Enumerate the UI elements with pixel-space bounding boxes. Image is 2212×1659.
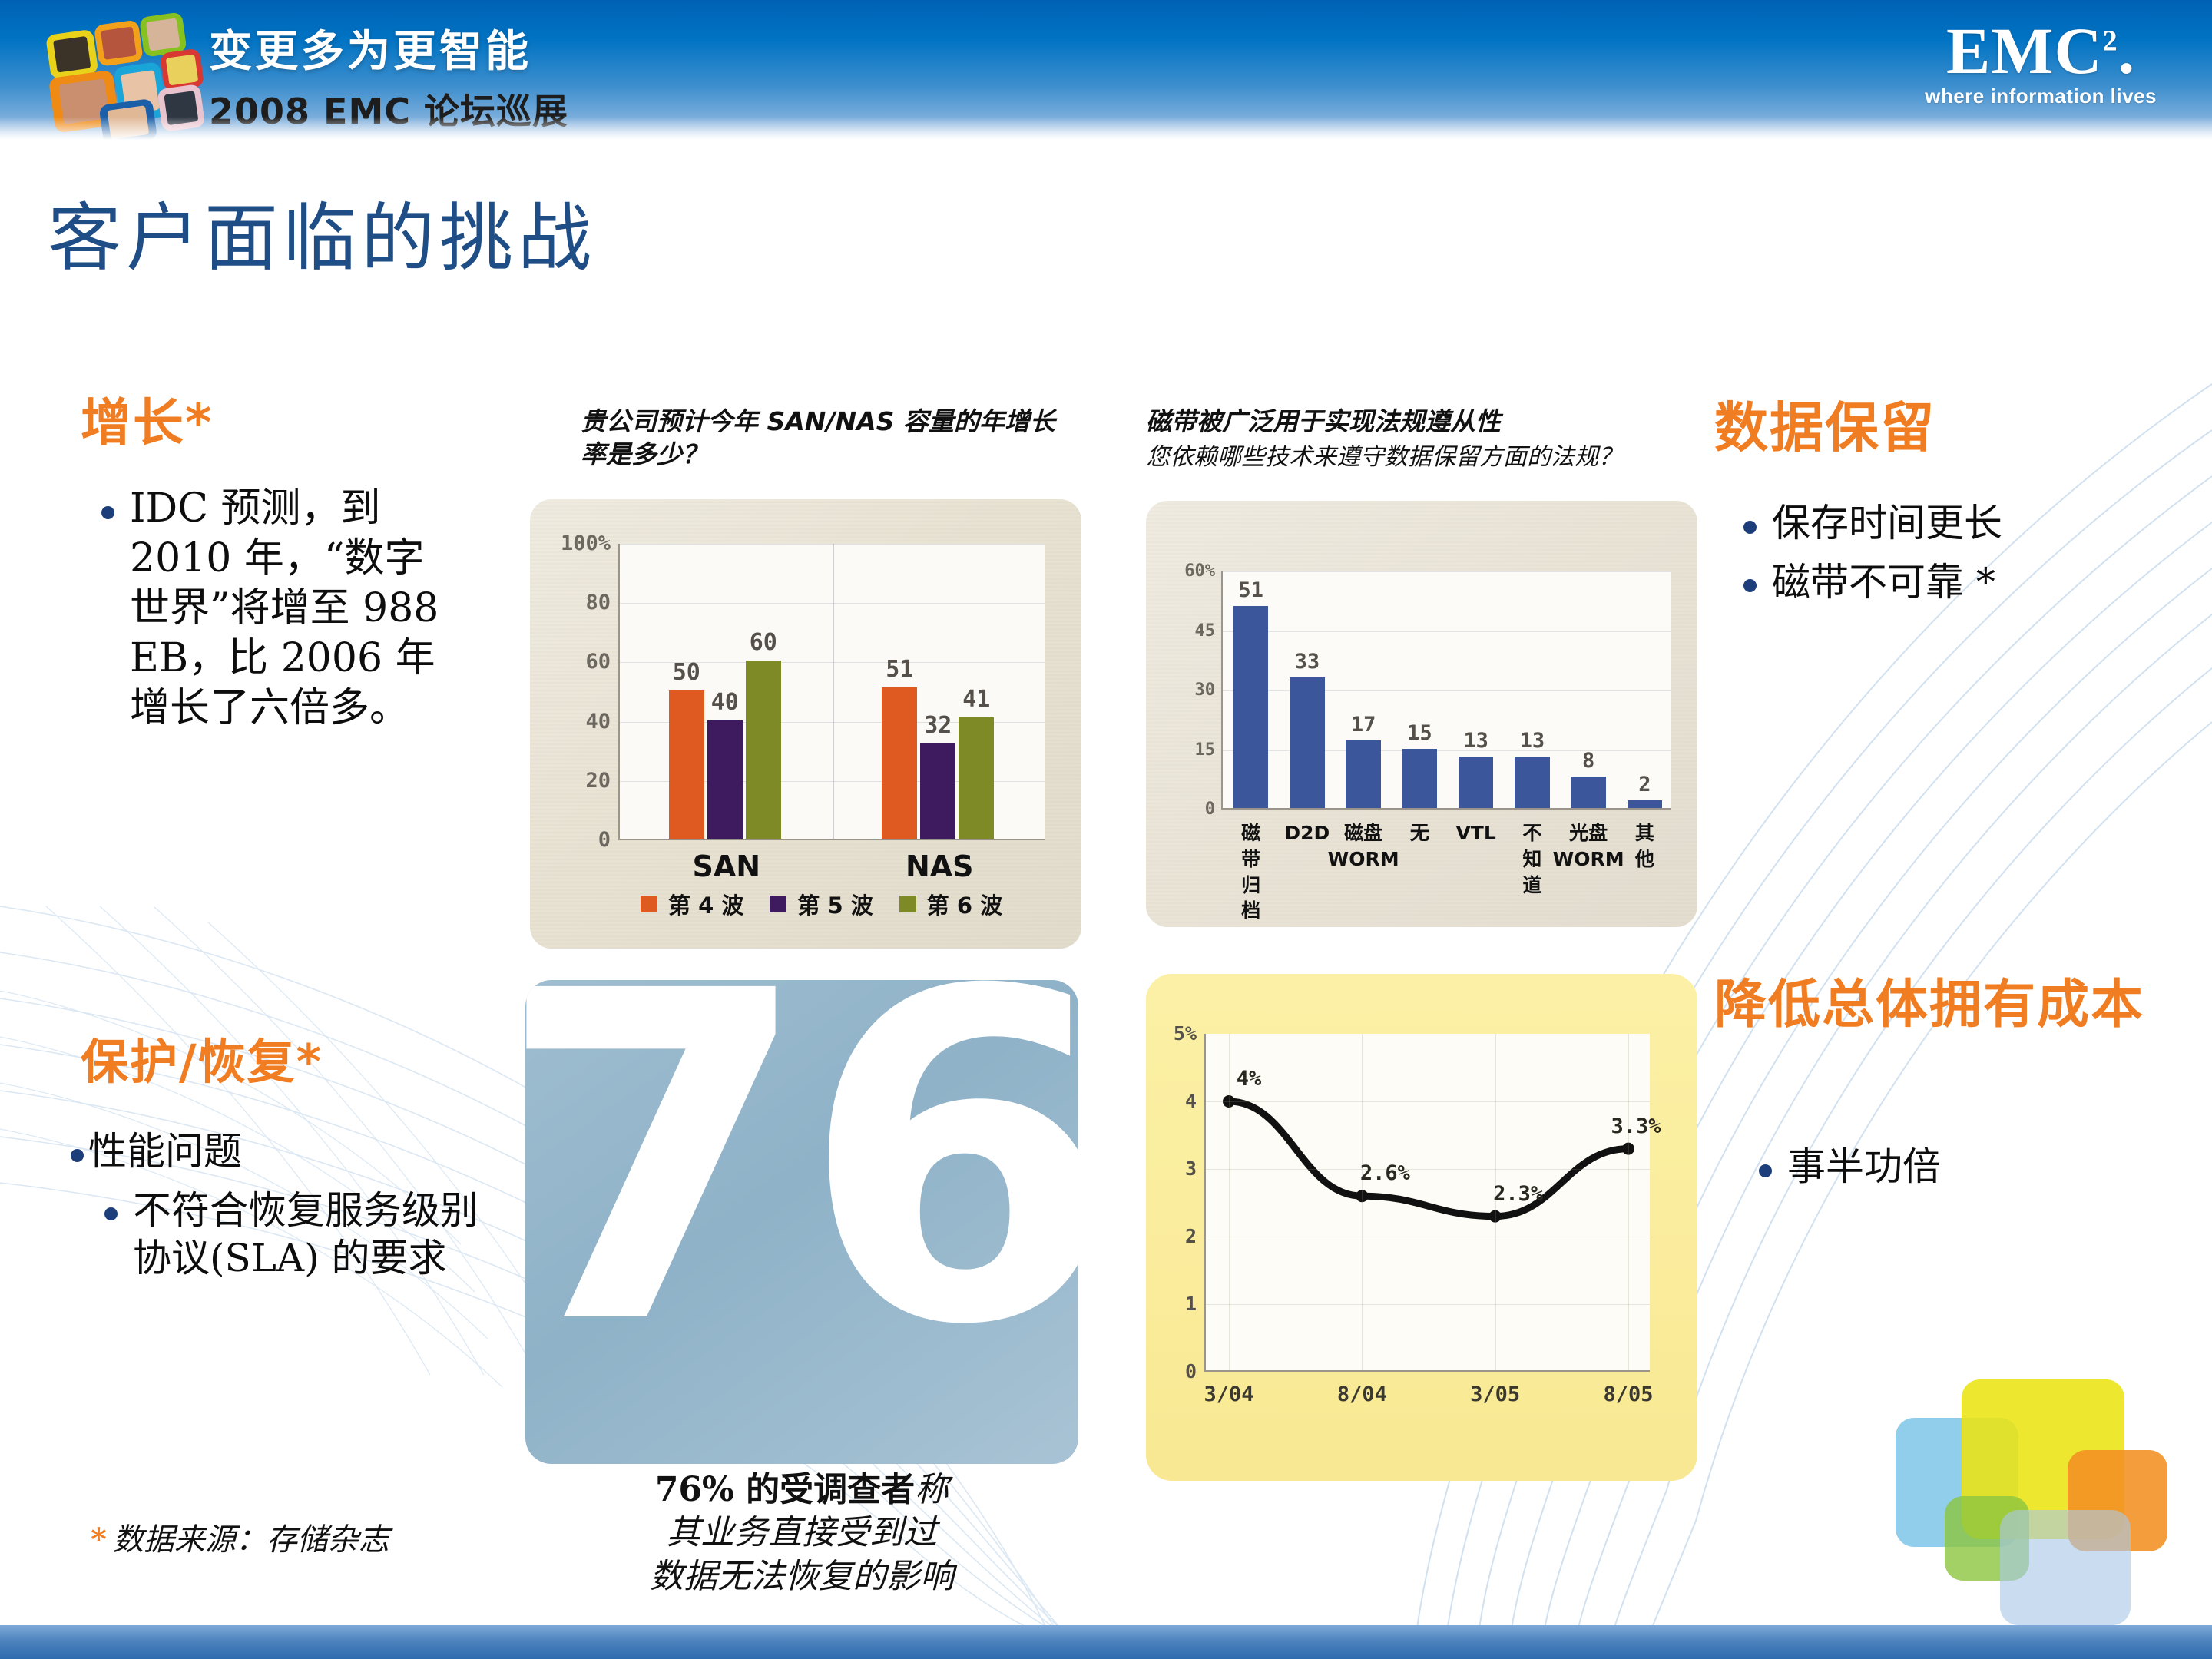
chart2-y-tick-label: 30 (1195, 680, 1216, 700)
chart3-plot-area: 5%432103/048/043/058/054%2.6%2.3%3.3% (1204, 1034, 1650, 1372)
chart3-gridline-vertical (1229, 1034, 1230, 1370)
header-fade (0, 117, 2212, 140)
chart3-gridline (1206, 1237, 1650, 1237)
bullet-text: 性能问题 (88, 1128, 242, 1176)
chart1-bar-value: 32 (924, 712, 952, 739)
photo-76-percent: 76% (525, 980, 1078, 1464)
chart1-bar: 41 (959, 717, 994, 839)
chart1-category-label: NAS (906, 849, 974, 883)
chart2-bar: 8光盘 WORM (1571, 777, 1605, 808)
chart2-bar: 33D2D (1290, 677, 1324, 809)
section-heading-protect: 保护/恢复* (81, 1037, 323, 1088)
footnote-text: 数据来源：存储杂志 (113, 1522, 389, 1558)
chart2-bar-value: 13 (1463, 729, 1488, 753)
list-item: 磁带不可靠 * (1743, 558, 2174, 607)
chart1-bar-group: 504060SAN (669, 544, 784, 839)
chart2-plot-area: 60%453015051磁带 归档33D2D17磁盘 WORM15无13VTL1… (1221, 571, 1671, 810)
chart1-legend-label: 第 6 波 (927, 888, 1002, 920)
page-title: 客户面临的挑战 (48, 178, 596, 285)
decorative-square-bluegray (2000, 1510, 2131, 1625)
chart2-subtitle: 您依赖哪些技术来遵守数据保留方面的法规？ (1146, 442, 1637, 472)
chart2-category-label: 不知道 (1522, 820, 1541, 898)
chart2-title: 磁带被广泛用于实现法规遵从性 (1146, 406, 1637, 439)
photo-76-caption-line2: 其业务直接受到过 (525, 1512, 1078, 1555)
bullet-list-growth: IDC 预测，到 2010 年，“数字世界”将增至 988 EB，比 2006 … (101, 484, 462, 744)
chart1-bar: 32 (920, 743, 955, 839)
chart3-gridline-vertical (1362, 1034, 1363, 1370)
chart2-bar: 51磁带 归档 (1233, 606, 1268, 809)
bullet-text: 磁带不可靠 * (1772, 558, 1995, 607)
chart1-bar: 60 (746, 661, 781, 839)
chart2-bar: 2其他 (1628, 800, 1662, 808)
chart1-bar-value: 60 (750, 629, 777, 656)
chart3-x-tick-label: 3/05 (1470, 1382, 1520, 1406)
emc-wordmark-text: EMC (1946, 14, 2103, 88)
chart3-point-label: 4% (1237, 1067, 1262, 1091)
chart1-y-tick-label: 100% (561, 531, 611, 555)
chart2-panel: 60%453015051磁带 归档33D2D17磁盘 WORM15无13VTL1… (1146, 501, 1697, 927)
chart2-category-label: 其他 (1635, 820, 1654, 873)
chart2-bar: 13不知道 (1515, 757, 1549, 808)
chart2-bar: 15无 (1402, 749, 1437, 809)
section-heading-growth: 增长* (81, 396, 214, 450)
list-item: 事半功倍 (1759, 1143, 2158, 1191)
chart3-gridline (1206, 1101, 1650, 1102)
chart1-plot-area: 100%806040200504060SAN513241NAS (618, 544, 1045, 840)
chart2-category-label: 磁带 归档 (1241, 820, 1260, 924)
chart1-caption: 贵公司预计今年 SAN/NAS 容量的年增长率是多少？ (581, 406, 1057, 472)
chart3-y-tick-label: 4 (1185, 1090, 1197, 1112)
bullet-text: 事半功倍 (1787, 1143, 1941, 1191)
bullet-text: 不符合恢复服务级别协议(SLA) 的要求 (133, 1187, 493, 1283)
chart2-caption: 磁带被广泛用于实现法规遵从性 您依赖哪些技术来遵守数据保留方面的法规？ (1146, 406, 1637, 472)
chart3-y-tick-label: 3 (1185, 1157, 1197, 1180)
chart2-bar: 13VTL (1459, 757, 1493, 808)
emc-tagline: where information lives (1925, 84, 2157, 108)
chart1-legend-label: 第 4 波 (668, 888, 743, 920)
chart3-gridline-vertical (1628, 1034, 1629, 1370)
chart3-y-tick-label: 5% (1174, 1022, 1197, 1045)
chart2-bar-value: 17 (1351, 713, 1376, 737)
header-banner: 变更多为更智能 2008 EMC 论坛巡展 EMC2. where inform… (0, 0, 2212, 140)
chart2-y-tick-label: 45 (1195, 621, 1216, 641)
chart2-category-label: 磁盘 WORM (1328, 820, 1399, 873)
chart1-y-tick-label: 0 (598, 828, 611, 852)
chart1-legend-swatch (899, 896, 916, 912)
campaign-slogan-line1: 变更多为更智能 (209, 17, 731, 79)
chart2-bar-value: 13 (1520, 729, 1545, 753)
photo-76-caption-line3: 数据无法恢复的影响 (525, 1555, 1078, 1598)
photo-76-caption-rest: 称 (915, 1470, 949, 1509)
bullet-dot-icon (1743, 579, 1757, 592)
chart1-bar: 51 (882, 687, 917, 839)
chart3-line-svg (1206, 1034, 1651, 1372)
chart3-gridline (1206, 1169, 1650, 1170)
footnote: *数据来源：存储杂志 (91, 1515, 389, 1559)
footnote-star: * (91, 1522, 107, 1558)
chart2-category-label: D2D (1284, 820, 1330, 846)
chart1-bar-value: 51 (886, 656, 913, 683)
chart2-gridline (1223, 631, 1671, 632)
chart2-y-tick-label: 15 (1195, 740, 1216, 760)
chart1-y-tick-label: 20 (585, 769, 611, 793)
chart1-legend-item: 第 6 波 (879, 888, 1002, 920)
chart3-y-tick-label: 2 (1185, 1225, 1197, 1247)
photo-76-number: 76% (525, 980, 1078, 1387)
chart1-legend-item: 第 4 波 (621, 888, 743, 920)
chart2-bar-value: 33 (1295, 650, 1320, 674)
chart1-legend-item: 第 5 波 (750, 888, 873, 920)
chart1-bar-value: 50 (673, 659, 700, 686)
chart2-category-label: VTL (1455, 820, 1495, 846)
chart2-bar: 17磁盘 WORM (1346, 740, 1380, 808)
chart1-group-divider (833, 544, 834, 839)
bullet-text: IDC 预测，到 2010 年，“数字世界”将增至 988 EB，比 2006 … (130, 484, 462, 733)
chart3-point-label: 2.6% (1360, 1161, 1410, 1185)
chart3-gridline (1206, 1304, 1650, 1305)
chart2-y-tick-label: 60% (1184, 561, 1215, 581)
chart2-bar-value: 8 (1582, 749, 1594, 773)
chart1-bar-value: 41 (962, 686, 990, 713)
chart2-category-label: 无 (1410, 820, 1429, 846)
photo-76-caption-line1: 76% 的受调查者称 (525, 1469, 1078, 1512)
bullet-list-protect: 性能问题 不符合恢复服务级别协议(SLA) 的要求 (71, 1128, 493, 1293)
chart3-line-path (1229, 1101, 1628, 1217)
list-item: 保存时间更长 (1743, 499, 2174, 548)
emc-superscript: 2 (2103, 25, 2118, 57)
chart3-y-tick-label: 0 (1185, 1360, 1197, 1382)
bullet-list-tco: 事半功倍 (1759, 1143, 2158, 1202)
chart2-bar-value: 51 (1238, 578, 1263, 602)
chart2-y-tick-label: 0 (1205, 800, 1215, 819)
emc-logo: EMC2. where information lives (1925, 20, 2157, 108)
chart2-category-label: 光盘 WORM (1553, 820, 1624, 873)
bullet-dot-icon (1759, 1164, 1772, 1177)
chart2-bar-value: 15 (1407, 721, 1432, 745)
chart3-x-tick-label: 8/04 (1337, 1382, 1387, 1406)
bullet-dot-icon (71, 1149, 84, 1162)
chart1-legend-swatch (641, 896, 657, 912)
chart2-gridline (1223, 571, 1671, 572)
section-heading-tco: 降低总体拥有成本 (1714, 977, 2144, 1033)
chart3-y-tick-label: 1 (1185, 1293, 1197, 1315)
chart3-panel: 5%432103/048/043/058/054%2.6%2.3%3.3% (1146, 974, 1697, 1481)
list-item: 性能问题 (71, 1128, 493, 1176)
chart1-bar: 50 (669, 690, 704, 839)
chart1-legend-swatch (770, 896, 786, 912)
chart1-panel: 100%806040200504060SAN513241NAS 第 4 波第 5… (530, 499, 1081, 949)
bullet-dot-icon (101, 506, 114, 519)
chart1-legend-label: 第 5 波 (797, 888, 873, 920)
bullet-list-retention: 保存时间更长 磁带不可靠 * (1743, 499, 2174, 617)
chart1-bar-value: 40 (711, 689, 739, 716)
chart1-bar-group: 513241NAS (882, 544, 997, 839)
chart1-y-tick-label: 80 (585, 591, 611, 614)
emc-wordmark: EMC2. (1925, 20, 2157, 83)
photo-76-caption: 76% 的受调查者称 其业务直接受到过 数据无法恢复的影响 (525, 1469, 1078, 1598)
chart1-legend: 第 4 波第 5 波第 6 波 (621, 888, 1002, 920)
chart3-x-tick-label: 8/05 (1603, 1382, 1653, 1406)
section-heading-retention: 数据保留 (1714, 399, 1936, 458)
footer-bar (0, 1625, 2212, 1659)
bullet-dot-icon (1743, 521, 1757, 534)
chart3-point-label: 3.3% (1611, 1114, 1661, 1138)
bullet-text: 保存时间更长 (1772, 499, 2002, 548)
photo-76-caption-bold: 76% 的受调查者 (655, 1470, 915, 1509)
list-item: 不符合恢复服务级别协议(SLA) 的要求 (104, 1187, 493, 1283)
list-item: IDC 预测，到 2010 年，“数字世界”将增至 988 EB，比 2006 … (101, 484, 462, 733)
chart1-category-label: SAN (692, 849, 760, 883)
chart3-x-tick-label: 3/04 (1204, 1382, 1253, 1406)
chart2-bar-value: 2 (1638, 773, 1651, 796)
chart3-point-label: 2.3% (1493, 1182, 1543, 1206)
bullet-dot-icon (104, 1207, 118, 1220)
chart1-y-tick-label: 60 (585, 650, 611, 674)
decorative-squares-cluster (1869, 1343, 2200, 1627)
chart1-bar: 40 (707, 720, 743, 839)
chart1-y-tick-label: 40 (585, 709, 611, 733)
